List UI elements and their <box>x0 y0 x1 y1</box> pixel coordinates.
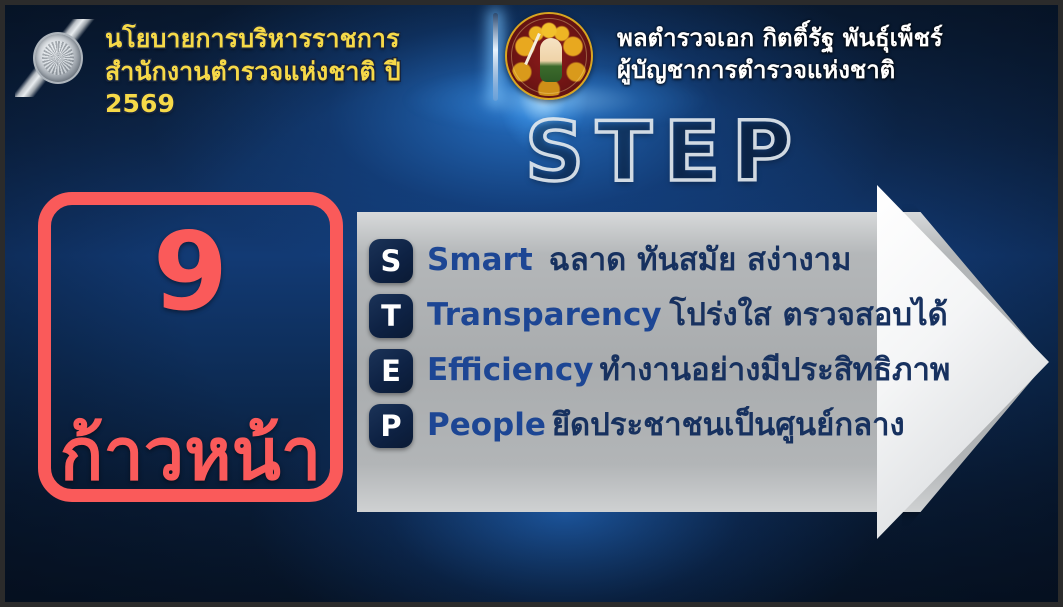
step-english-people: People <box>427 407 546 443</box>
step-thai-smart: ฉลาด ทันสมัย สง่างาม <box>549 242 852 278</box>
step-text-transparency: Transparencyโปร่งใส ตรวจสอบได้ <box>427 300 948 331</box>
step-text-people: Peopleยึดประชาชนเป็นศูนย์กลาง <box>427 410 905 441</box>
header-bar: นโยบายการบริหารราชการ สำนักงานตำรวจแห่งช… <box>5 5 1058 109</box>
highlight-label: ก้าวหน้า <box>43 417 338 493</box>
step-thai-people: ยึดประชาชนเป็นศูนย์กลาง <box>552 407 905 443</box>
step-badge-p: P <box>369 404 413 448</box>
step-row-people: P Peopleยึดประชาชนเป็นศูนย์กลาง <box>369 398 1049 453</box>
step-row-efficiency: E Efficiencyทำงานอย่างมีประสิทธิภาพ <box>369 343 1049 398</box>
commissioner-position: ผู้บัญชาการตำรวจแห่งชาติ <box>617 55 1047 87</box>
step-row-smart: S Smartฉลาด ทันสมัย สง่างาม <box>369 233 1049 288</box>
header-divider-beam <box>493 13 498 101</box>
step-thai-efficiency: ทำงานอย่างมีประสิทธิภาพ <box>599 352 950 388</box>
step-badge-s: S <box>369 239 413 283</box>
step-english-efficiency: Efficiency <box>427 352 593 388</box>
royal-thai-police-emblem-icon <box>505 12 593 100</box>
commissioner-name: พลตำรวจเอก กิตติ์รัฐ พันธุ์เพ็ชร์ <box>617 23 1047 55</box>
royal-thai-silver-emblem-icon <box>17 17 95 99</box>
nine-progress-highlight-box: 9 ก้าวหน้า <box>38 192 343 502</box>
poster-canvas: นโยบายการบริหารราชการ สำนักงานตำรวจแห่งช… <box>0 0 1063 607</box>
step-badge-e: E <box>369 349 413 393</box>
step-text-smart: Smartฉลาด ทันสมัย สง่างาม <box>427 245 851 276</box>
highlight-number: 9 <box>51 219 330 327</box>
step-thai-transparency: โปร่งใส ตรวจสอบได้ <box>670 297 948 333</box>
step-watermark-text: STEP <box>525 105 804 200</box>
step-english-smart: Smart <box>427 242 533 278</box>
step-principles-list: S Smartฉลาด ทันสมัย สง่างาม T Transparen… <box>369 233 1049 453</box>
step-row-transparency: T Transparencyโปร่งใส ตรวจสอบได้ <box>369 288 1049 343</box>
step-text-efficiency: Efficiencyทำงานอย่างมีประสิทธิภาพ <box>427 355 950 386</box>
step-badge-t: T <box>369 294 413 338</box>
step-english-transparency: Transparency <box>427 297 662 333</box>
commissioner-title: พลตำรวจเอก กิตติ์รัฐ พันธุ์เพ็ชร์ ผู้บัญ… <box>617 23 1047 86</box>
emblem-inner-ring <box>511 18 587 94</box>
emblem-disc-shape <box>33 32 83 84</box>
